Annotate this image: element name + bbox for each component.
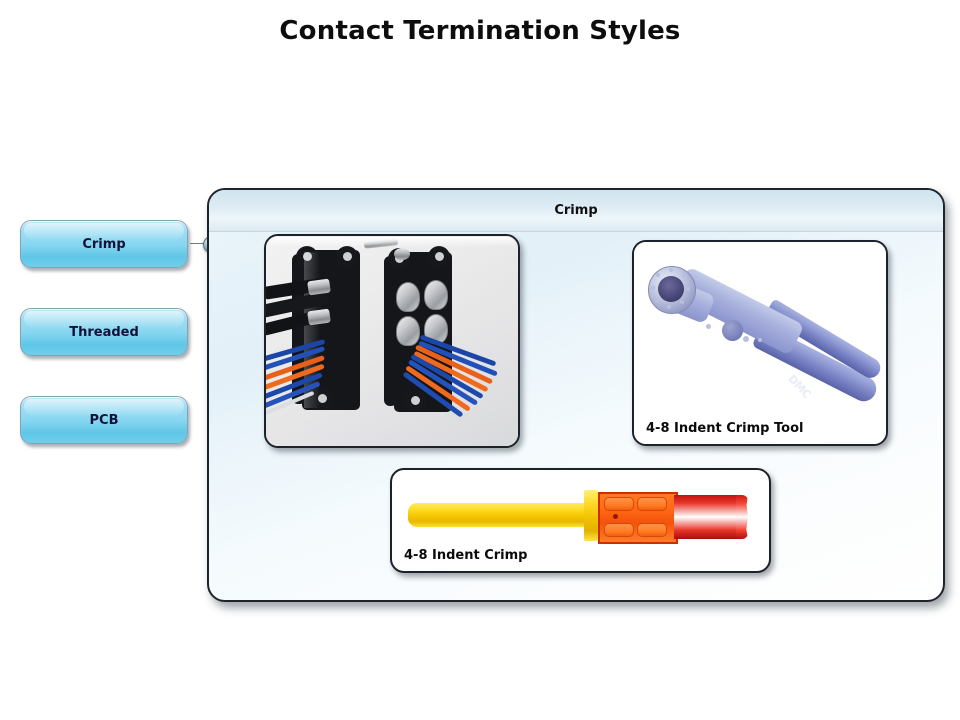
sidebar-item-label: Crimp [82,237,125,252]
head-screw-dot [667,305,671,309]
head-screw-dot [656,273,660,277]
contact-silver [424,280,448,310]
tool-body-dot [743,336,749,342]
wire-red [674,495,740,539]
sidebar-item-label: Threaded [69,325,139,340]
contact-silver [396,316,420,346]
card-crimp-tool-photo[interactable]: DMC 4-8 Indent Crimp Tool [632,240,888,446]
head-screw-dot [680,300,684,304]
contact-silver [396,282,420,312]
head-screw-dot [669,268,673,272]
head-screw-dot [682,274,686,278]
crimp-indent [637,497,667,511]
sidebar-item-threaded[interactable]: Threaded [20,308,188,356]
contact-pin-yellow [408,503,586,527]
tool-body-dot [702,294,707,299]
crimp-indent [637,523,667,537]
panel-header-title: Crimp [554,203,597,218]
contact-pin-collar [584,490,598,541]
tool-body-dot [758,338,762,342]
lock-screw-icon [394,248,410,260]
sidebar-item-label: PCB [90,413,119,428]
card-crimp-diagram[interactable]: 4-8 Indent Crimp [390,468,771,573]
mount-hole-icon [343,252,352,261]
head-screw-dot [686,287,690,291]
tool-selector-knob [722,320,743,341]
tool-body-dot [706,324,711,329]
tool-head-indenter-icon [658,276,684,302]
sidebar-item-pcb[interactable]: PCB [20,396,188,444]
mount-hole-icon [435,252,444,261]
crimp-indent [604,523,634,537]
wire-red-tip [736,495,748,539]
card-connector-photo[interactable] [264,234,520,448]
head-screw-dot [655,299,659,303]
panel-header: Crimp [209,190,943,232]
head-screw-dot [651,286,655,290]
page-title: Contact Termination Styles [0,16,960,46]
mount-hole-icon [411,396,420,405]
sidebar-nav: Crimp Threaded PCB [20,220,192,484]
main-content-panel: Crimp [207,188,945,602]
crimp-indent [604,497,634,511]
card-caption: 4-8 Indent Crimp [404,548,527,563]
sidebar-item-crimp[interactable]: Crimp [20,220,188,268]
inspection-hole-icon [613,514,618,519]
card-caption: 4-8 Indent Crimp Tool [646,421,803,436]
